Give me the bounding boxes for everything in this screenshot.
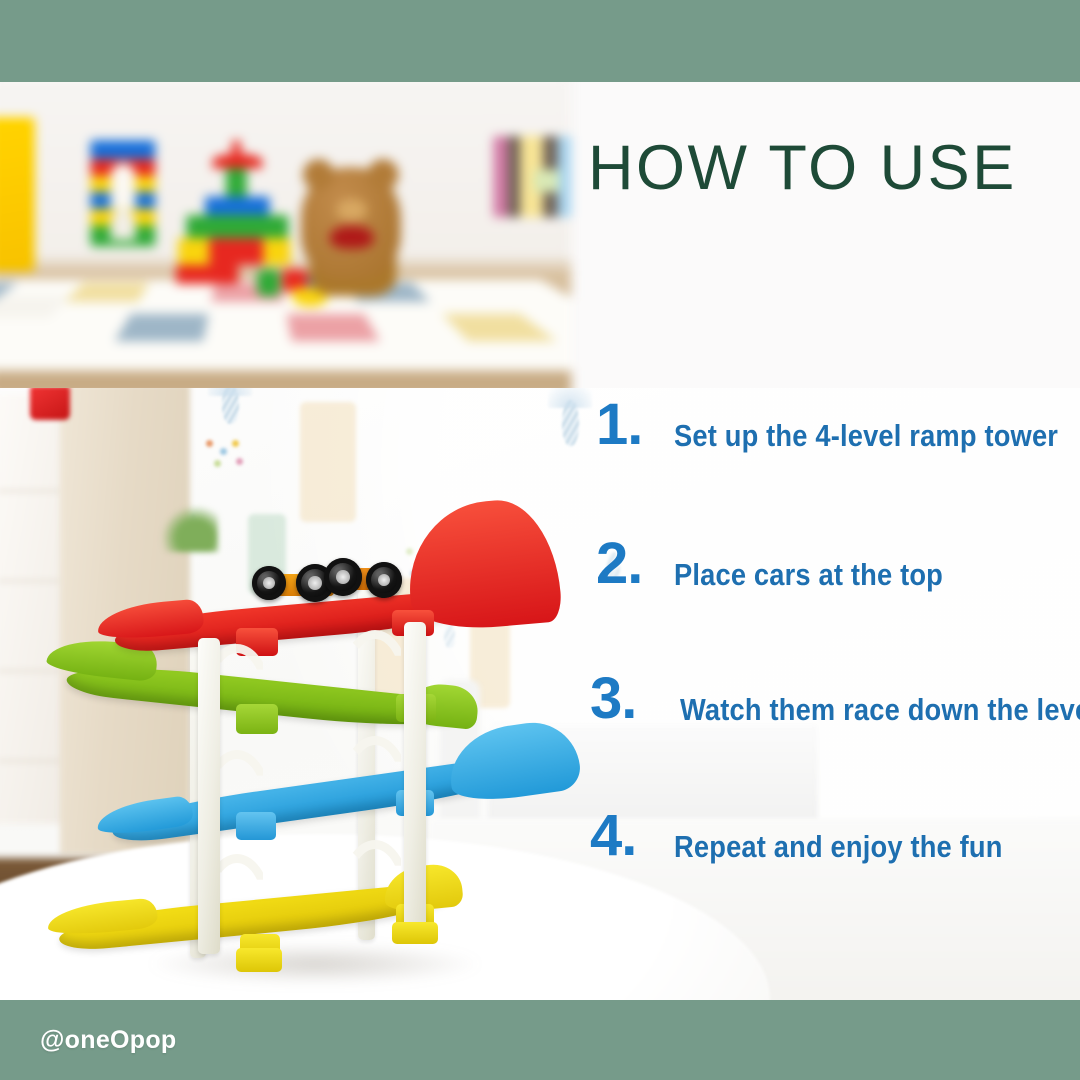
pastel-block: [493, 136, 508, 217]
step-text-2: Place cars at the top: [674, 557, 943, 593]
blurred-playroom-photo: [0, 82, 571, 396]
ramp-level-3-blue: [110, 752, 541, 846]
steps-list: 1. Set up the 4-level ramp tower 2. Plac…: [596, 396, 1080, 936]
step-item-4: 4. Repeat and enjoy the fun: [596, 801, 1080, 936]
step-item-1: 1. Set up the 4-level ramp tower: [596, 396, 1080, 531]
castle-arch: [110, 209, 135, 240]
toy-block: [176, 265, 238, 284]
support-post: [404, 622, 426, 938]
step-text-1: Set up the 4-level ramp tower: [674, 418, 1058, 454]
connector-blue: [236, 812, 276, 840]
base-foot: [392, 922, 438, 944]
step-number-2: 2.: [596, 535, 642, 593]
red-cup: [30, 388, 70, 420]
teddy-bear-head: [301, 167, 401, 279]
toy-spire: [232, 140, 240, 157]
yellow-cabinet: [0, 117, 35, 271]
frame-arch: [340, 630, 410, 686]
frame-arch: [340, 840, 410, 896]
toy-block: [205, 196, 269, 215]
toy-block: [257, 269, 280, 296]
step-item-2: 2. Place cars at the top: [596, 531, 1080, 666]
connector-green: [236, 704, 278, 734]
base-foot: [236, 948, 282, 972]
teddy-bear-muzzle: [336, 199, 367, 222]
toy-block: [263, 238, 290, 265]
step-item-3: 3. Watch them race down the levels: [596, 666, 1080, 801]
step-number-3: 3.: [590, 670, 636, 728]
brand-handle: @oneOpop: [40, 1026, 176, 1055]
car-wheel: [252, 566, 286, 600]
page-title: HOW TO USE: [588, 132, 1058, 204]
pastel-block: [508, 136, 520, 217]
ramp-racer-toy: [40, 482, 580, 982]
play-mat: [0, 280, 571, 371]
wallpaper-leaf-motif: [208, 388, 252, 396]
step-text-3: Watch them race down the levels: [680, 692, 1080, 728]
toy-block: [226, 163, 247, 198]
support-post: [198, 638, 220, 954]
toy-block: [209, 238, 263, 265]
teddy-bear-bow: [330, 226, 374, 249]
pastel-block: [534, 169, 559, 192]
step-text-4: Repeat and enjoy the fun: [674, 829, 1003, 865]
step-number-1: 1.: [596, 396, 642, 454]
frame-arch: [340, 736, 410, 792]
step-number-4: 4.: [590, 807, 636, 865]
top-brand-band: [0, 0, 1080, 82]
pastel-block: [558, 136, 572, 217]
castle-arch: [110, 163, 135, 209]
car-wheel: [366, 562, 402, 598]
toy-block: [91, 140, 155, 159]
wallpaper-leaf-motif: [548, 388, 592, 408]
car-wheel: [324, 558, 362, 596]
toy-block: [186, 215, 288, 238]
toy-block: [178, 238, 209, 265]
